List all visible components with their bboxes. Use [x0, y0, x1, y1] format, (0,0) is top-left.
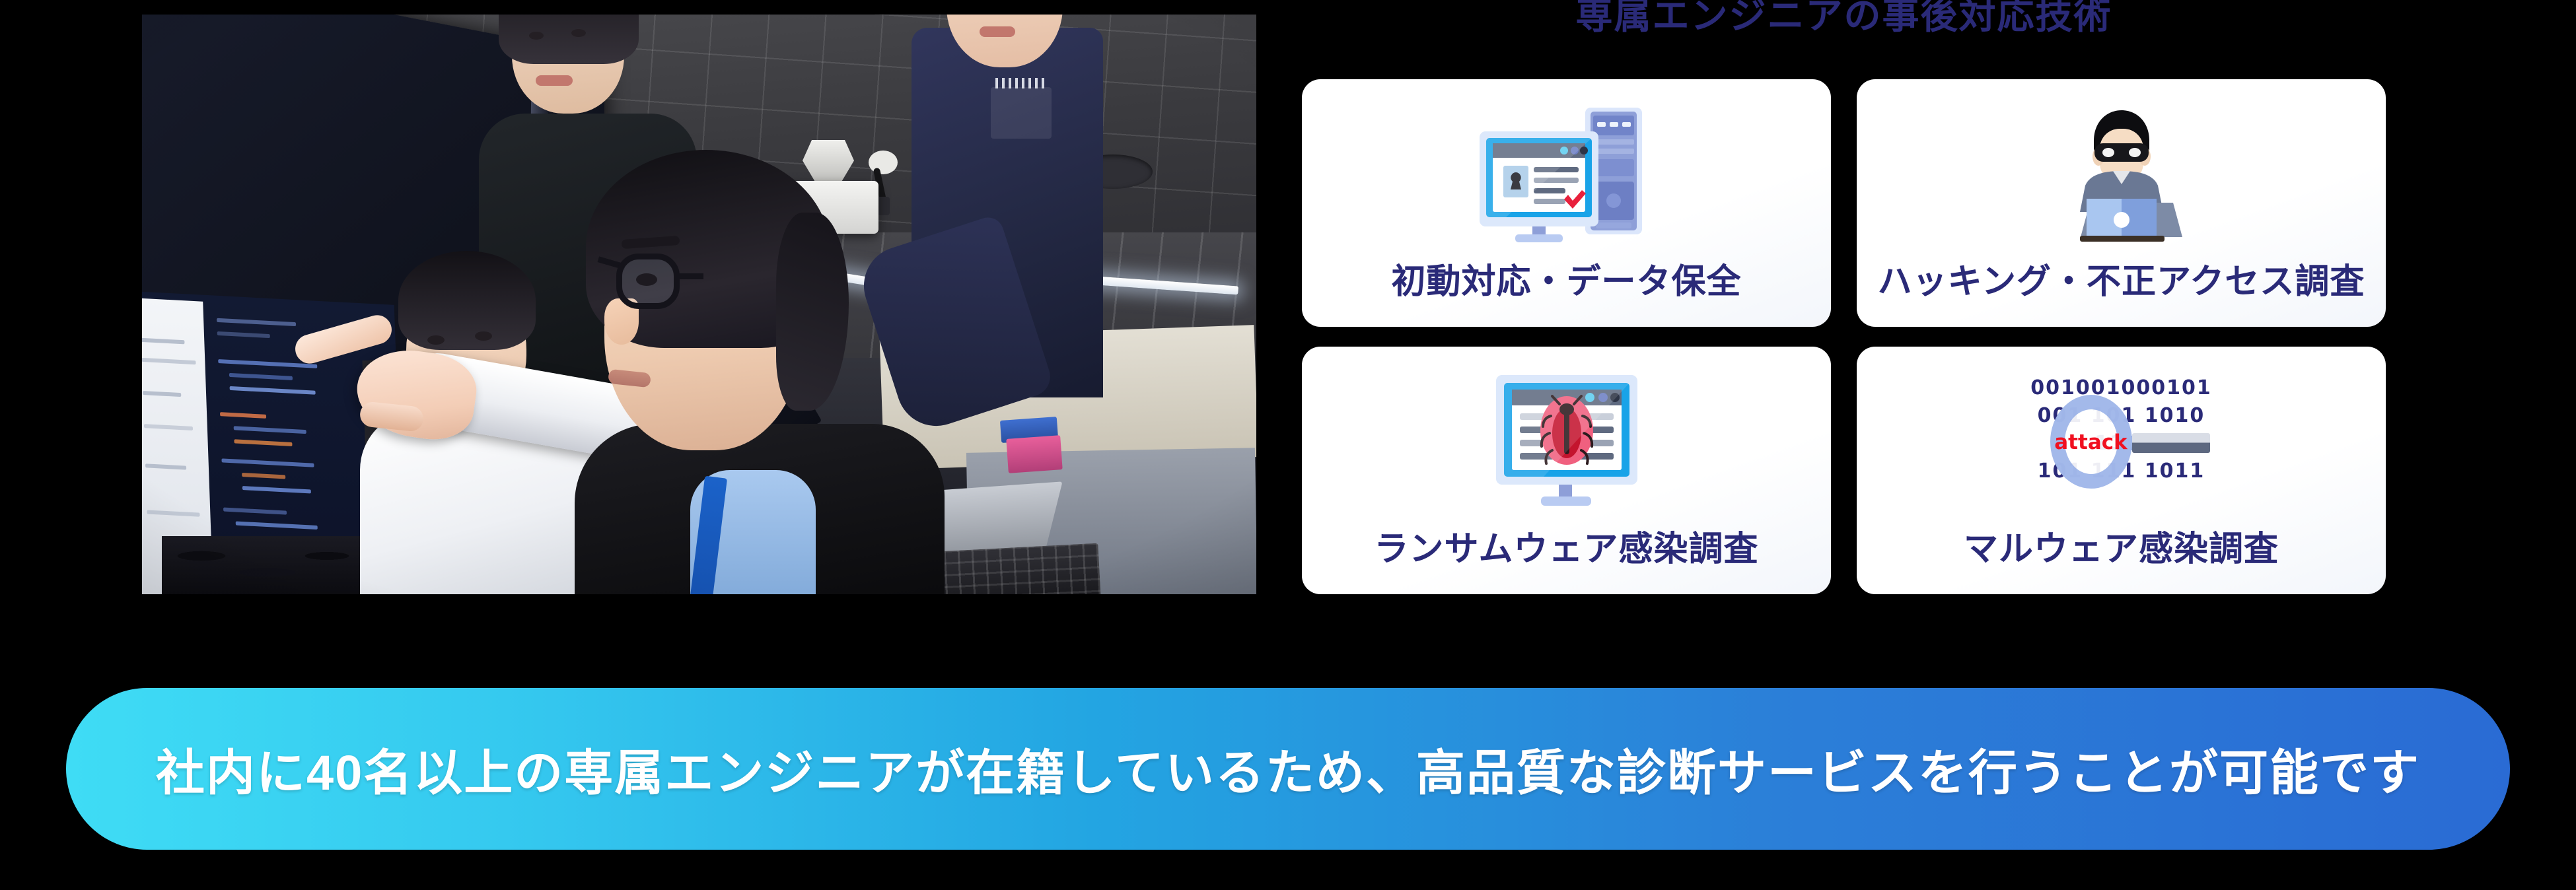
cable-bundle: [162, 536, 380, 594]
service-card-hacking-investigation[interactable]: ハッキング・不正アクセス調査: [1857, 79, 2386, 327]
desktop-monitor-server-icon: [1468, 102, 1666, 244]
service-card-malware-investigation[interactable]: 001001000101 001 101 1010 11 1 101 111 1…: [1857, 347, 2386, 594]
eye: [475, 331, 492, 341]
service-card-grid: 初動対応・データ保全: [1302, 79, 2386, 594]
person-back-middle-hair: [499, 15, 639, 64]
monitor-bug-icon: [1484, 370, 1649, 512]
desk-item-pink: [1006, 435, 1062, 473]
binary-magnifier-attack-icon: 001001000101 001 101 1010 11 1 101 111 1…: [2003, 370, 2240, 512]
eye: [636, 273, 657, 286]
panel-title: 専属エンジニアの事後対応技術: [1302, 0, 2386, 36]
binary-line: 001001000101: [2003, 376, 2240, 399]
team-photo: [142, 15, 1256, 594]
card-icon-wrapper: [1857, 99, 2386, 248]
service-card-label: マルウェア感染調査: [1857, 521, 2386, 570]
service-card-ransomware-investigation[interactable]: ランサムウェア感染調査: [1302, 347, 1831, 594]
magnifier-handle: [2132, 433, 2210, 453]
pens-in-pocket: [995, 78, 1047, 88]
mouth: [980, 26, 1015, 37]
service-card-label: ランサムウェア感染調査: [1302, 521, 1831, 570]
masked-hacker-laptop-icon: [2046, 102, 2198, 244]
eye: [427, 335, 445, 345]
shirt-pocket: [991, 87, 1052, 139]
service-card-label: 初動対応・データ保全: [1302, 254, 1831, 303]
highlight-banner: 社内に40名以上の専属エンジニアが在籍しているため、高品質な診断サービスを行うこ…: [66, 688, 2510, 850]
services-panel: 専属エンジニアの事後対応技術: [1302, 0, 2386, 601]
card-icon-wrapper: 001001000101 001 101 1010 11 1 101 111 1…: [1857, 366, 2386, 515]
card-icon-wrapper: [1302, 99, 1831, 248]
eye: [529, 32, 544, 40]
attack-keyword: attack: [2054, 430, 2128, 454]
glasses-bridge: [677, 273, 703, 279]
page-root: 専属エンジニアの事後対応技術: [0, 0, 2576, 890]
person-white-shirt-hair: [398, 251, 536, 350]
service-card-label: ハッキング・不正アクセス調査: [1857, 254, 2386, 303]
service-card-initial-response[interactable]: 初動対応・データ保全: [1302, 79, 1831, 327]
eye: [571, 29, 586, 37]
mouth: [536, 75, 573, 86]
card-icon-wrapper: [1302, 366, 1831, 515]
banner-text: 社内に40名以上の専属エンジニアが在籍しているため、高品質な診断サービスを行うこ…: [156, 734, 2420, 804]
